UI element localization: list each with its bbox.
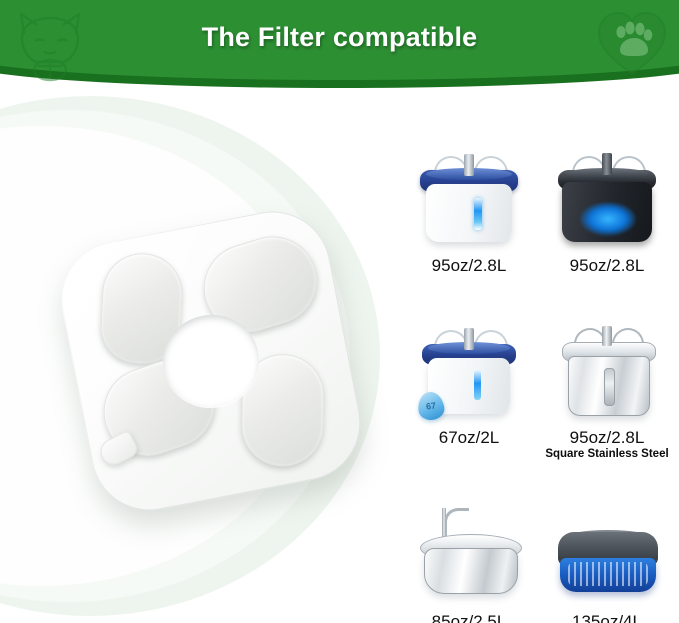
model-card-oval-stainless-85oz: 85oz/2.5L Oval Stainless Steel — [404, 496, 534, 623]
black-square-fountain-icon — [542, 140, 672, 252]
stainless-square-fountain-icon — [542, 312, 672, 424]
model-card-white-67oz: 67 67oz/2L — [404, 312, 534, 447]
model-capacity-label: 95oz/2.8L — [542, 256, 672, 275]
page-title: The Filter compatible — [0, 22, 679, 53]
model-card-stainless-square-95oz: 95oz/2.8L Square Stainless Steel — [542, 312, 672, 461]
wide-blue-led-fountain-icon — [542, 496, 672, 608]
white-square-fountain-icon — [404, 140, 534, 252]
page-header: The Filter compatible — [0, 0, 679, 90]
compatible-models-grid: 95oz/2.8L 95oz/2.8L — [404, 140, 672, 618]
model-capacity-label: 95oz/2.8L — [404, 256, 534, 275]
model-material-label: Square Stainless Steel — [542, 448, 672, 461]
model-capacity-label: 135oz/4L — [542, 612, 672, 623]
model-card-black-square-95oz: 95oz/2.8L — [542, 140, 672, 275]
infographic-page: The Filter compatible — [0, 0, 679, 623]
filter-product-image — [40, 215, 380, 525]
stainless-oval-fountain-icon — [404, 496, 534, 608]
model-card-white-square-95oz: 95oz/2.8L — [404, 140, 534, 275]
white-small-square-fountain-icon: 67 — [404, 312, 534, 424]
filter-pad-body — [52, 202, 371, 521]
model-capacity-label: 85oz/2.5L — [404, 612, 534, 623]
model-capacity-label: 67oz/2L — [404, 428, 534, 447]
model-capacity-label: 95oz/2.8L — [542, 428, 672, 447]
model-card-wide-blue-135oz: 135oz/4L — [542, 496, 672, 623]
